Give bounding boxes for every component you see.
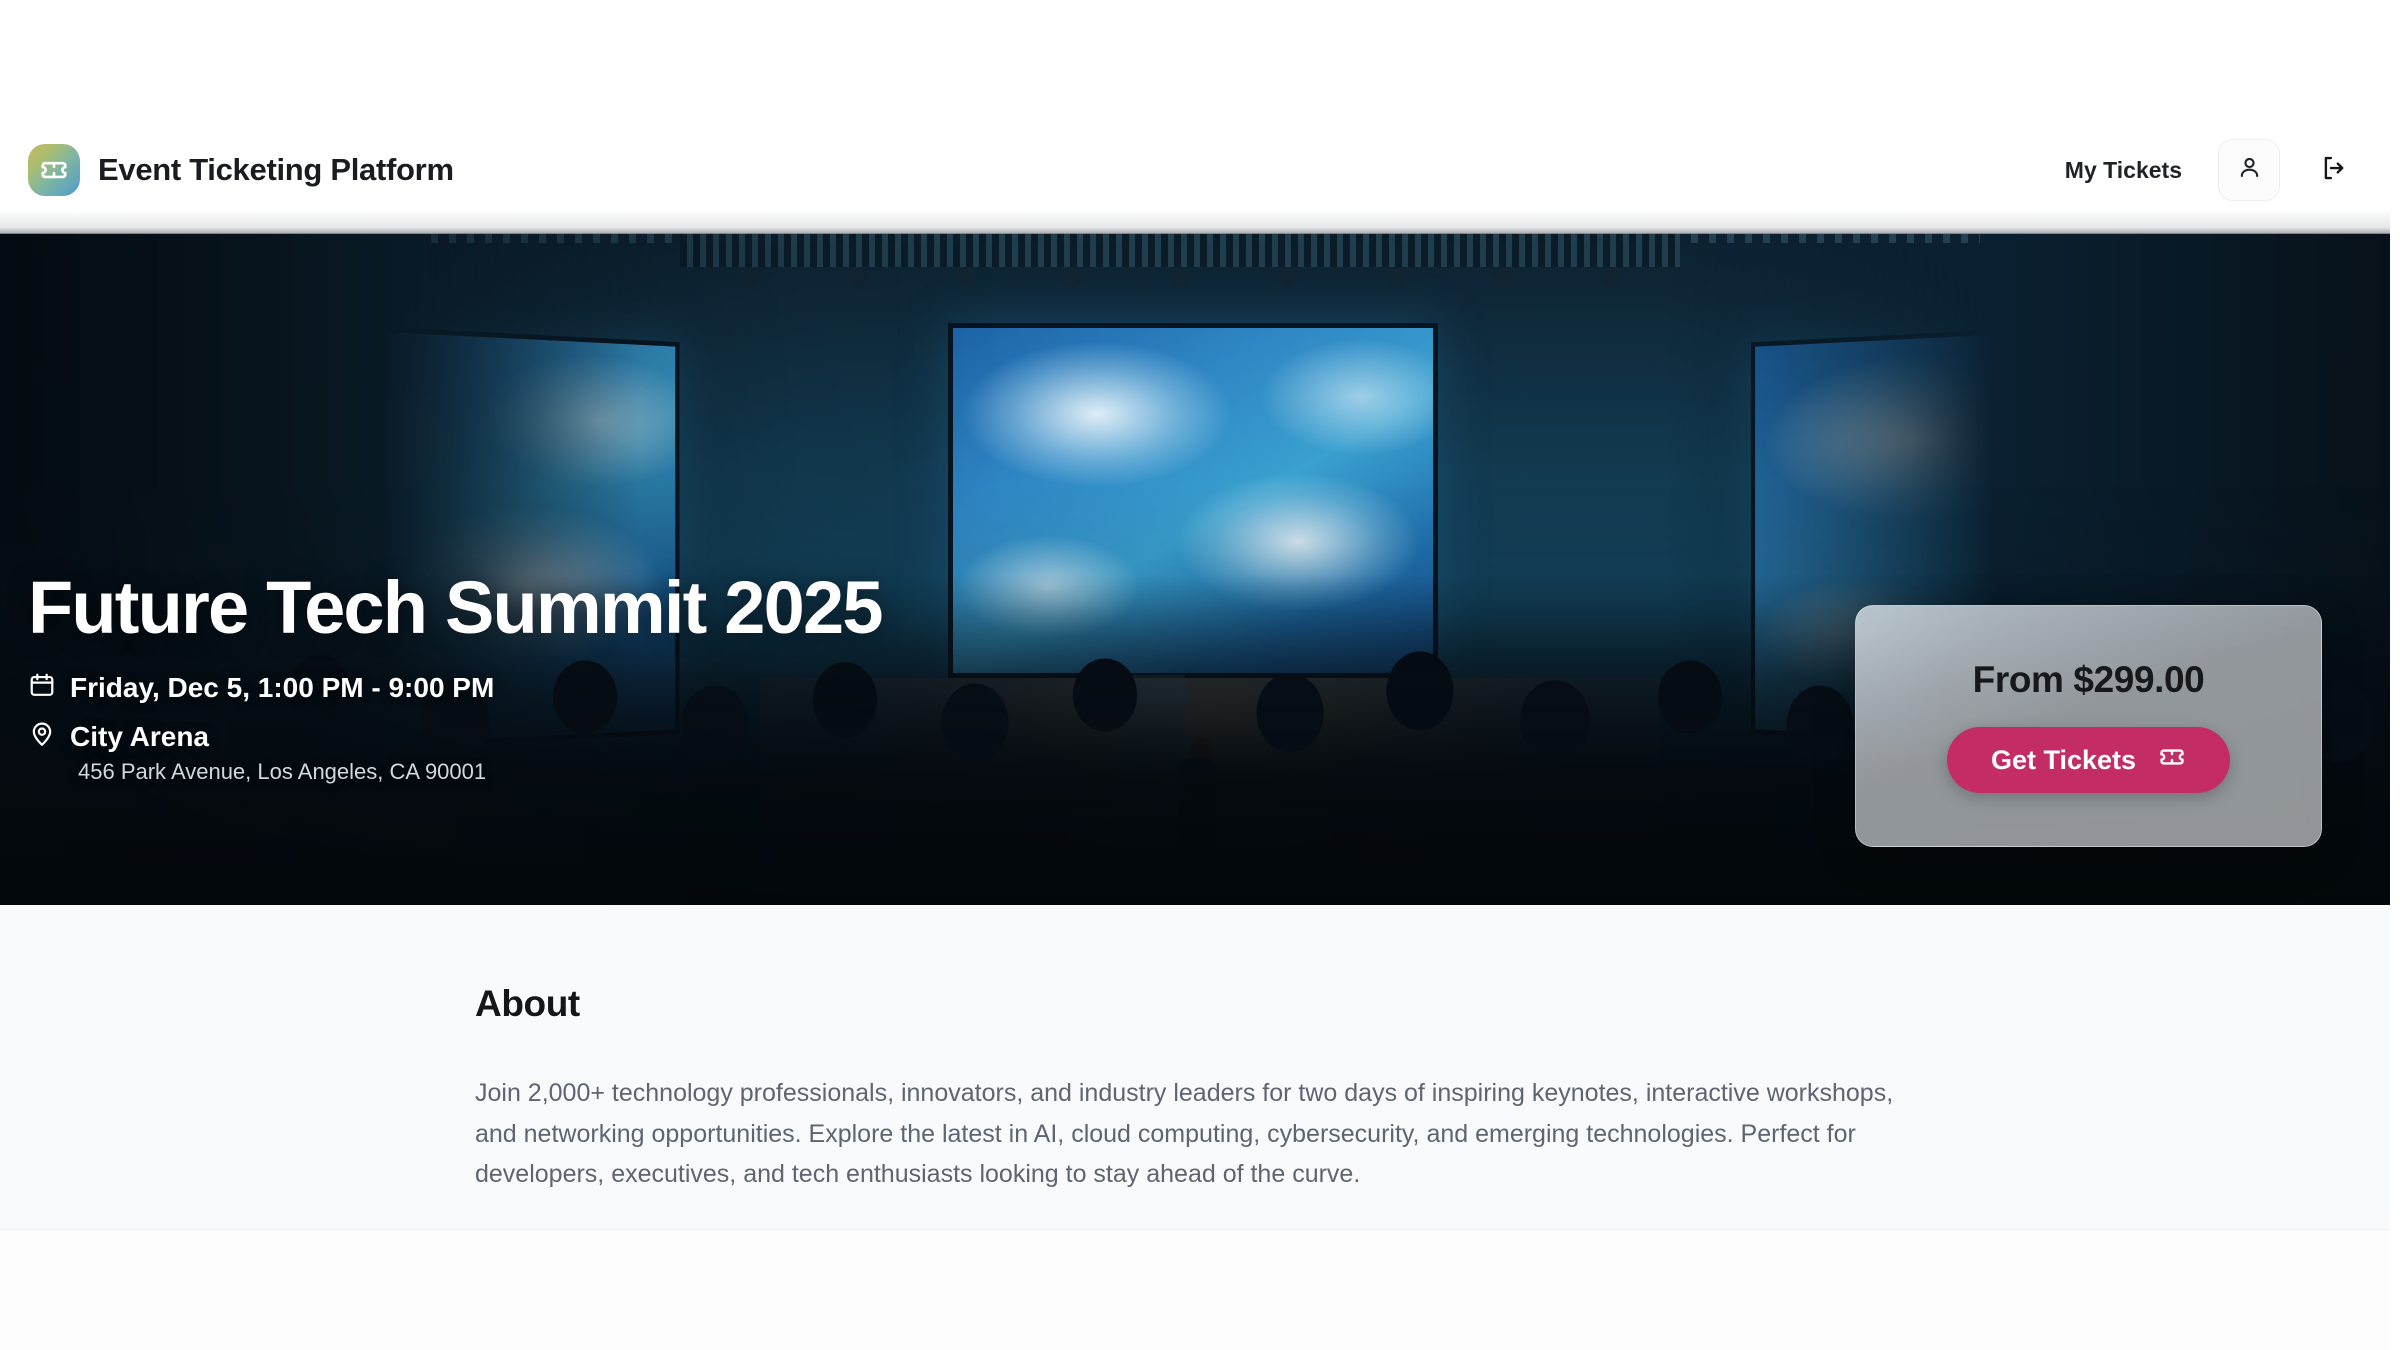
- event-title: Future Tech Summit 2025: [28, 570, 882, 647]
- about-description: Join 2,000+ technology professionals, in…: [475, 1073, 1915, 1195]
- event-venue-name: City Arena: [70, 721, 209, 753]
- site-header: Event Ticketing Platform My Tickets: [0, 0, 2390, 233]
- user-icon: [2236, 154, 2263, 186]
- calendar-icon: [28, 671, 56, 704]
- event-date-row: Friday, Dec 5, 1:00 PM - 9:00 PM: [28, 671, 882, 704]
- ticket-logo-icon: [28, 144, 80, 196]
- get-tickets-button[interactable]: Get Tickets: [1947, 727, 2230, 793]
- page-scrollbar[interactable]: [2390, 0, 2400, 1350]
- map-pin-icon: [28, 720, 56, 753]
- about-section: About Join 2,000+ technology professiona…: [0, 905, 2390, 1230]
- brand-title: Event Ticketing Platform: [98, 152, 454, 188]
- ticket-price-card: From $299.00 Get Tickets: [1855, 605, 2322, 847]
- ticket-icon: [2158, 743, 2186, 778]
- logout-icon: [2319, 153, 2349, 188]
- get-tickets-label: Get Tickets: [1991, 745, 2136, 776]
- header-actions: My Tickets: [2055, 139, 2362, 201]
- about-inner: About Join 2,000+ technology professiona…: [475, 905, 1915, 1195]
- nav-my-tickets[interactable]: My Tickets: [2055, 151, 2192, 190]
- about-heading: About: [475, 983, 1915, 1025]
- header-inner: Event Ticketing Platform My Tickets: [28, 139, 2362, 201]
- account-button[interactable]: [2218, 139, 2280, 201]
- event-hero: Future Tech Summit 2025 Friday, Dec 5, 1…: [0, 233, 2390, 905]
- hero-text-block: Future Tech Summit 2025 Friday, Dec 5, 1…: [28, 570, 882, 785]
- logout-button[interactable]: [2306, 142, 2362, 198]
- event-venue-row: City Arena: [28, 720, 882, 753]
- event-date-text: Friday, Dec 5, 1:00 PM - 9:00 PM: [70, 672, 494, 704]
- brand-home-link[interactable]: Event Ticketing Platform: [28, 144, 454, 196]
- price-from-label: From $299.00: [1973, 659, 2205, 701]
- event-venue-address: 456 Park Avenue, Los Angeles, CA 90001: [78, 759, 882, 785]
- event-detail-page: Event Ticketing Platform My Tickets: [0, 0, 2400, 1350]
